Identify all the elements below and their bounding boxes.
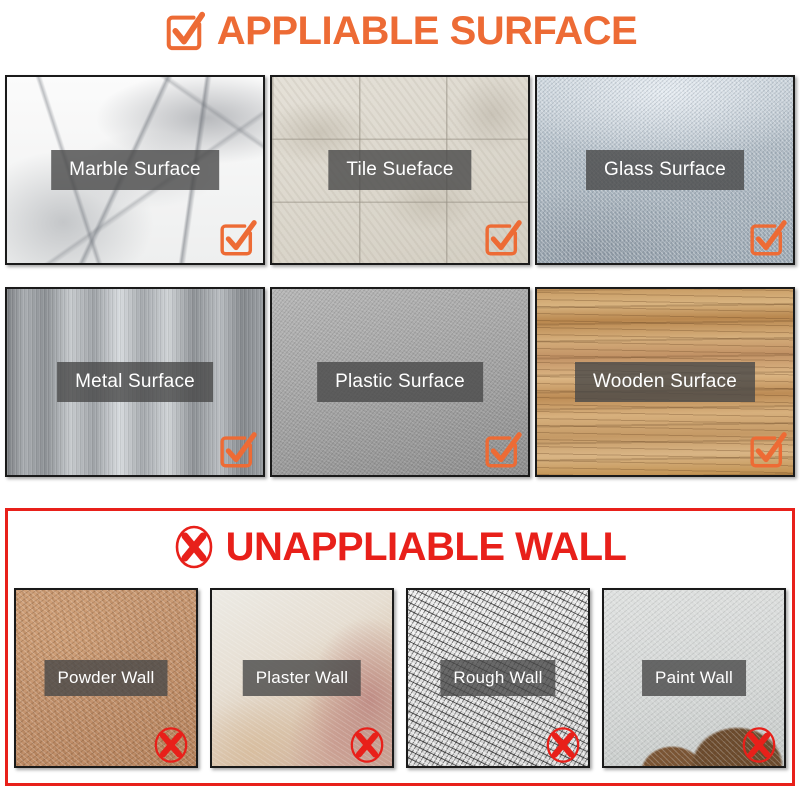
unappliable-wall-title: UNAPPLIABLE WALL: [226, 527, 627, 567]
wall-tile-plaster[interactable]: Plaster Wall: [210, 588, 394, 768]
surface-tile-glass[interactable]: Glass Surface: [535, 75, 795, 265]
appliable-surface-title: APPLIABLE SURFACE: [217, 11, 637, 51]
circled-x-icon: [174, 525, 214, 569]
unappliable-wall-header: UNAPPLIABLE WALL: [8, 517, 792, 577]
wall-tile-rough[interactable]: Rough Wall: [406, 588, 590, 768]
surface-tile-metal[interactable]: Metal Surface: [5, 287, 265, 477]
surface-tile-label: Metal Surface: [57, 362, 213, 402]
wall-tile-label: Powder Wall: [45, 660, 168, 696]
wall-tile-label: Paint Wall: [642, 660, 746, 696]
wall-tile-powder[interactable]: Powder Wall: [14, 588, 198, 768]
circled-x-badge-icon: [544, 726, 582, 764]
wall-tile-label: Rough Wall: [440, 660, 555, 696]
circled-x-badge-icon: [740, 726, 778, 764]
surface-tile-tile[interactable]: Tile Sueface: [270, 75, 530, 265]
surface-tile-label: Plastic Surface: [317, 362, 483, 402]
check-box-badge-icon: [480, 217, 522, 259]
check-box-badge-icon: [215, 217, 257, 259]
check-box-badge-icon: [480, 429, 522, 471]
surface-tile-wooden[interactable]: Wooden Surface: [535, 287, 795, 477]
appliable-surface-header: APPLIABLE SURFACE: [0, 0, 800, 62]
surface-tile-label: Wooden Surface: [575, 362, 755, 402]
wall-tile-label: Plaster Wall: [243, 660, 361, 696]
surface-tile-plastic[interactable]: Plastic Surface: [270, 287, 530, 477]
surface-tile-marble[interactable]: Marble Surface: [5, 75, 265, 265]
circled-x-badge-icon: [348, 726, 386, 764]
appliable-surface-grid: Marble Surface Tile Sueface Glass Surfac…: [5, 75, 795, 477]
check-box-icon: [163, 10, 205, 52]
unappliable-wall-grid: Powder Wall Plaster Wall Rough Wall: [14, 588, 786, 768]
circled-x-badge-icon: [152, 726, 190, 764]
check-box-badge-icon: [215, 429, 257, 471]
check-box-badge-icon: [745, 429, 787, 471]
surface-tile-label: Tile Sueface: [328, 150, 471, 190]
wall-tile-paint[interactable]: Paint Wall: [602, 588, 786, 768]
infographic-page: APPLIABLE SURFACE Marble Surface Tile Su…: [0, 0, 800, 800]
check-box-badge-icon: [745, 217, 787, 259]
surface-tile-label: Glass Surface: [586, 150, 744, 190]
surface-tile-label: Marble Surface: [51, 150, 219, 190]
